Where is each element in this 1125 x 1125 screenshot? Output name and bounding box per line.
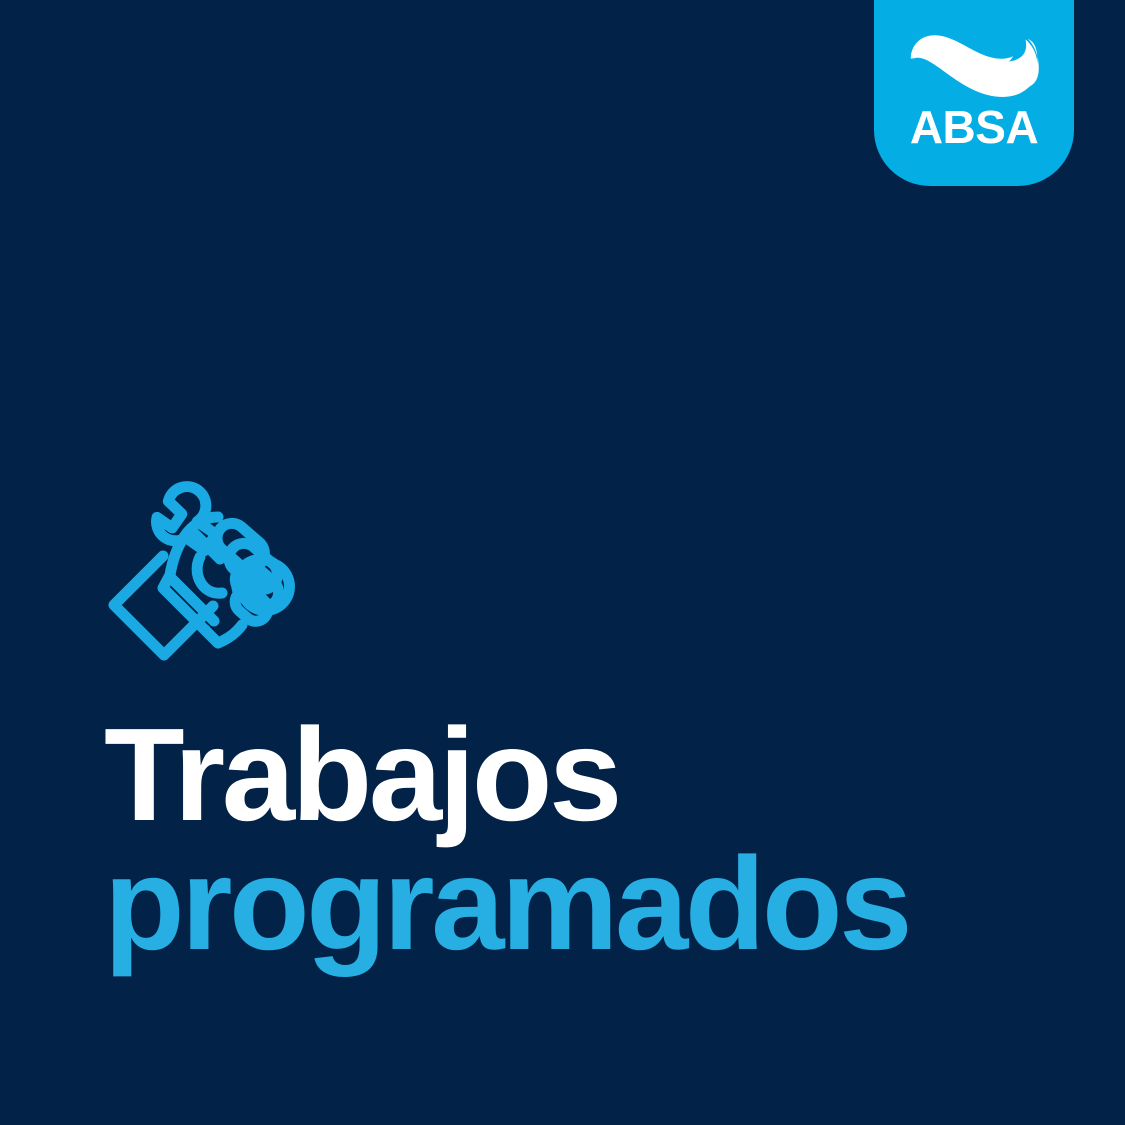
headline-line-accent: programados <box>104 839 1044 968</box>
water-wave-icon <box>908 32 1040 98</box>
headline-line-primary: Trabajos <box>104 710 1044 839</box>
poster-canvas: ABSA <box>0 0 1125 1125</box>
brand-badge[interactable]: ABSA <box>874 0 1074 186</box>
headline-block: Trabajos programados <box>104 710 1044 969</box>
brand-wordmark: ABSA <box>910 104 1038 150</box>
hand-holding-wrench-icon <box>100 443 322 671</box>
